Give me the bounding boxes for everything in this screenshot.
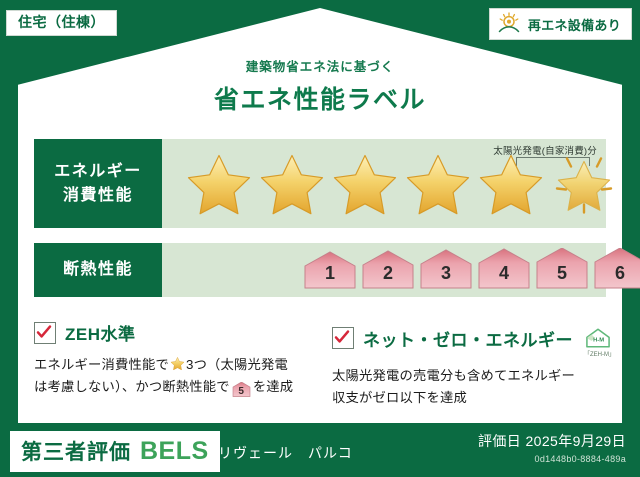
insulation-grade-number: 4 [499, 263, 509, 292]
claim-zeh-text-1: エネルギー消費性能で [34, 357, 169, 372]
star-icon [330, 150, 400, 217]
title-block: 建築物省エネ法に基づく 省エネ性能ラベル [0, 56, 640, 116]
solar-sun-icon [496, 12, 522, 36]
claim-zeh-text-2: 3つ（太陽光発電 [186, 357, 288, 372]
zeh-logo-caption: 「ZEH-M」 [584, 349, 615, 358]
insulation-grade-number: 3 [441, 263, 451, 292]
insulation-performance-row: 断熱性能 1 2 3 4 [34, 243, 606, 297]
building-type-tag: 住宅（住棟） [6, 10, 117, 36]
energy-row-value: 太陽光発電(自家消費)分 [162, 139, 606, 228]
star-rating [184, 150, 619, 217]
insulation-grade-number: 5 [557, 263, 567, 292]
claim-zeh: ZEH水準 エネルギー消費性能で3つ（太陽光発電 は考慮しない）、かつ断熱性能で… [34, 320, 312, 408]
label-title: 省エネ性能ラベル [0, 80, 640, 116]
insulation-grade-number: 1 [325, 263, 335, 292]
claim-zeh-text-3: は考慮しない）、かつ断熱性能で [34, 379, 230, 394]
insulation-grade-badge: 3 [418, 248, 474, 292]
energy-row-label: エネルギー 消費性能 [34, 139, 162, 228]
claim-net-zero-energy: ネット・ゼロ・エネルギー H-M 「ZEH-M」 太陽光発電の売電分も含めてエネ… [332, 320, 612, 408]
claim-zeh-header: ZEH水準 [34, 320, 312, 345]
claim-nze-text-2: 収支がゼロ以下を達成 [332, 390, 467, 405]
insulation-row-value: 1 2 3 4 5 [162, 243, 606, 297]
evaluation-info: 評価日 2025年9月29日 0d1448b0-8884-489a [478, 431, 626, 464]
claim-nze-header: ネット・ゼロ・エネルギー H-M 「ZEH-M」 [332, 320, 612, 356]
insulation-grade-badge: 2 [360, 248, 416, 292]
energy-row-label-line2: 消費性能 [54, 184, 142, 207]
insulation-grade-badge: 6 [592, 248, 640, 292]
insulation-grade-badge: 1 [302, 248, 358, 292]
inline-grade-number: 5 [232, 382, 251, 402]
insulation-row-label: 断熱性能 [34, 243, 162, 297]
claim-nze-body: 太陽光発電の売電分も含めてエネルギー 収支がゼロ以下を達成 [332, 365, 612, 408]
zeh-m-house-logo-icon: H-M 「ZEH-M」 [584, 320, 612, 356]
svg-text:H-M: H-M [593, 338, 604, 344]
inline-star-icon [169, 357, 186, 372]
star-icon [257, 150, 327, 217]
energy-performance-label: 住宅（住棟） 再エネ設備あり 建築物省エネ法に基づく 省エネ性能ラベル [0, 0, 640, 477]
energy-row-label-line1: エネルギー [54, 160, 142, 183]
star-icon [403, 150, 473, 217]
renewable-badge-label: 再エネ設備あり [528, 15, 621, 34]
insulation-grade-number: 6 [615, 263, 625, 292]
label-subtitle: 建築物省エネ法に基づく [0, 56, 640, 75]
claim-zeh-text-4: を達成 [253, 379, 294, 394]
claim-zeh-title: ZEH水準 [65, 320, 136, 345]
insulation-grade-badge: 5 [534, 248, 590, 292]
evaluation-id: 0d1448b0-8884-489a [478, 454, 626, 464]
claim-nze-text-1: 太陽光発電の売電分も含めてエネルギー [332, 368, 575, 383]
property-name: リヴェール パルコ [218, 443, 353, 463]
insulation-grade-scale: 1 2 3 4 5 [302, 248, 640, 292]
insulation-grade-badge: 4 [476, 248, 532, 292]
bels-certification-badge: 第三者評価 BELS [10, 431, 220, 472]
checkbox-checked-icon [34, 322, 56, 344]
claims-section: ZEH水準 エネルギー消費性能で3つ（太陽光発電 は考慮しない）、かつ断熱性能で… [34, 320, 612, 408]
star-sparkle-icon [549, 150, 619, 217]
claim-zeh-body: エネルギー消費性能で3つ（太陽光発電 は考慮しない）、かつ断熱性能で5を達成 [34, 354, 312, 398]
evaluation-date: 評価日 2025年9月29日 [478, 431, 626, 451]
insulation-grade-number: 2 [383, 263, 393, 292]
star-icon [184, 150, 254, 217]
renewable-equipment-badge: 再エネ設備あり [489, 8, 632, 40]
checkbox-checked-icon [332, 327, 354, 349]
star-icon [476, 150, 546, 217]
claim-nze-title: ネット・ゼロ・エネルギー [363, 326, 573, 351]
bels-en-label: BELS [140, 437, 209, 466]
bels-jp-label: 第三者評価 [21, 436, 131, 466]
inline-grade-badge-icon: 5 [232, 382, 251, 398]
label-footer: 第三者評価 BELS リヴェール パルコ 評価日 2025年9月29日 0d14… [0, 423, 640, 477]
energy-performance-row: エネルギー 消費性能 太陽光発電(自家消費)分 [34, 139, 606, 228]
